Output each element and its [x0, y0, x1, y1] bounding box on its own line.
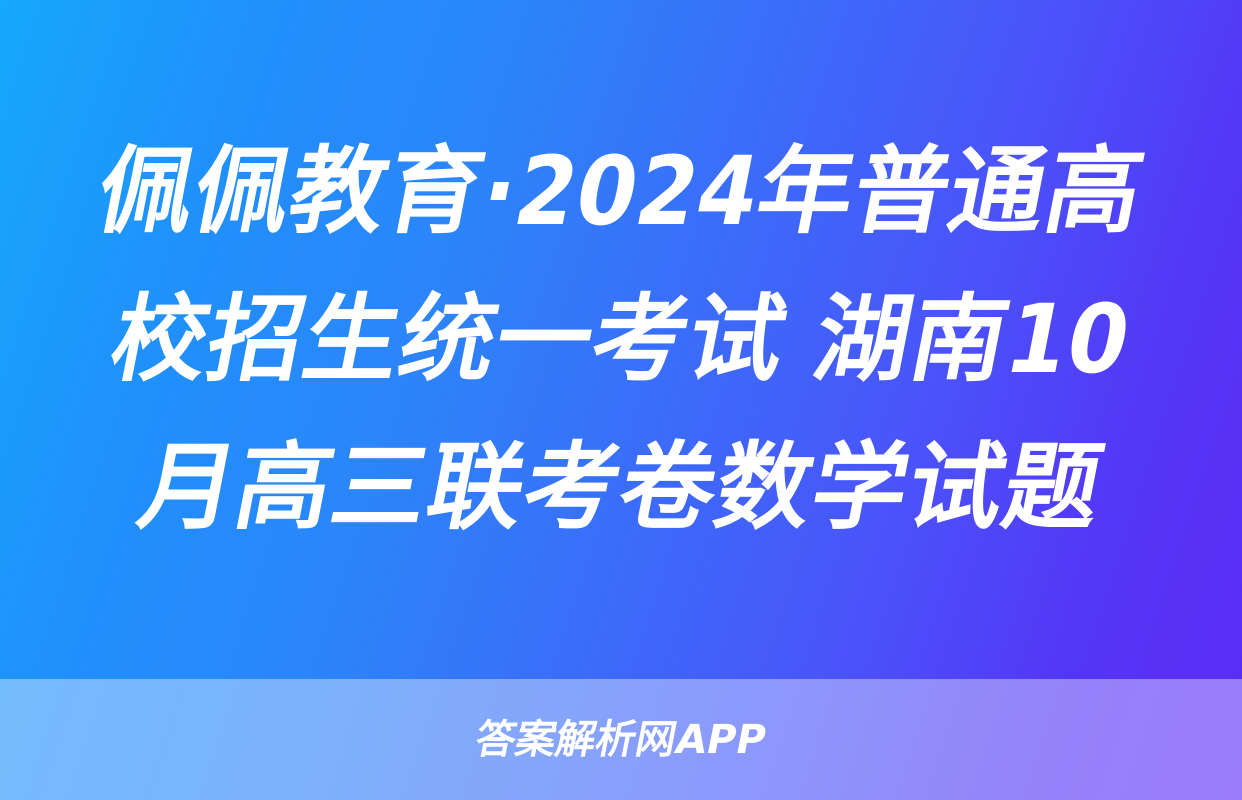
banner-title-line-2: 校招生统一考试 湖南10 [38, 266, 1205, 414]
banner-title-line-3: 月高三联考卷数学试题 [38, 414, 1205, 562]
banner-title-line-1: 佩佩教育·2024年普通高 [38, 118, 1205, 266]
watermark-app-label: 答案解析网APP [472, 717, 771, 763]
banner-title-block: 佩佩教育·2024年普通高 校招生统一考试 湖南10 月高三联考卷数学试题 [0, 0, 1242, 679]
watermark-band: 答案解析网APP [0, 679, 1242, 800]
promo-banner: 佩佩教育·2024年普通高 校招生统一考试 湖南10 月高三联考卷数学试题 答案… [0, 0, 1242, 800]
